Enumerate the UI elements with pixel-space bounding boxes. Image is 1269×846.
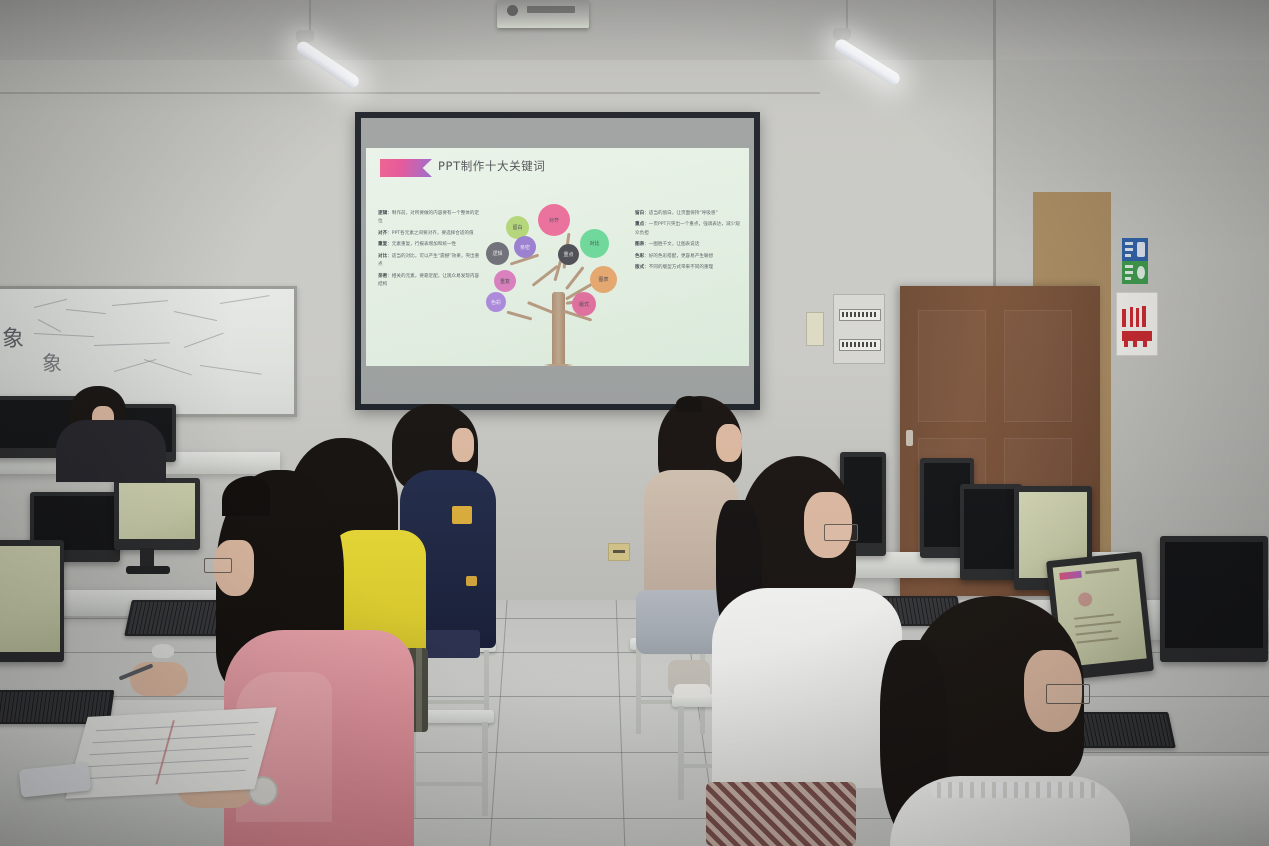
bullet-key: 版式 [635,265,644,270]
bullet-key: 色彩 [635,254,644,259]
whiteboard-scrawl [34,299,67,308]
tree-bubble-zhongdian: 重点 [558,244,579,265]
tree-bubble-luoji: 逻辑 [486,242,509,265]
monitor-base [126,566,170,574]
monitor-front-left-1 [0,540,64,662]
light-rod-left [309,0,311,32]
whiteboard-scrawl [174,311,217,321]
notebook-paper [65,707,276,799]
slide-bullet: 色彩：好的色彩搭配，更容易产生联想 [635,253,740,261]
wall-junction-box [806,312,824,346]
tree-branch [527,301,554,314]
bubble-label: 重复 [500,278,510,285]
slide-left-column: 逻辑：制作前，对所要做的内容要有一个整体的定位 对齐：PPT各元素之间要对齐，要… [378,210,483,293]
panel-label-1 [839,309,881,321]
bubble-label: 亲密 [520,244,530,251]
door-handle[interactable] [906,430,913,446]
tree-bubble-chongfu: 重复 [494,270,516,292]
bubble-label: 色彩 [491,299,501,306]
bullet-key: 图表 [635,242,644,247]
screen-surface: PPT制作十大关键词 逻辑：制作前，对所要做的内容要有一个整体的定位 对齐：PP… [361,118,754,404]
bubble-label: 版式 [579,301,589,308]
tree-bubble-duiqi: 对齐 [538,204,570,236]
whiteboard-scrawl [38,319,61,332]
whiteboard-scrawl [200,365,262,375]
slide-title: PPT制作十大关键词 [438,158,545,174]
slide-bullet: 重点：一页PPT只突出一个重点，强调表达，减少观众负担 [635,221,740,238]
projector-label [527,6,575,13]
projection-screen: PPT制作十大关键词 逻辑：制作前，对所要做的内容要有一个整体的定位 对齐：PP… [355,112,760,410]
slide-bullet: 亲密：相关的元素，要靠近配，让观众易发现内容结构 [378,273,483,290]
slide-bullet: 重复：元素重复，行报表增加和统一性 [378,241,483,249]
bullet-text: ：一图胜千文，让图表说话 [644,242,699,247]
bullet-text: ：相关的元素，要靠近配，让观众易发现内容结构 [378,274,479,287]
monitor-right-3 [960,484,1022,580]
bubble-label: 逻辑 [492,250,502,257]
bullet-text: ：一页PPT只突出一个重点，强调表达，减少观众负担 [635,222,740,235]
bullet-key: 对比 [378,254,387,259]
bullet-text: ：好的色彩搭配，更容易产生联想 [644,254,713,259]
ppt-slide: PPT制作十大关键词 逻辑：制作前，对所要做的内容要有一个整体的定位 对齐：PP… [366,148,749,366]
wall-outlet[interactable] [608,543,630,561]
slide-bullet: 版式：不同的版型方式带来不同的重理 [635,264,740,272]
fire-safety-poster [1116,292,1158,356]
door-panel [1004,310,1072,422]
tree-branch [507,311,533,321]
whiteboard-scrawl [184,333,224,348]
whiteboard-scrawl [144,359,192,375]
tree-bubble-banshi: 版式 [572,292,596,316]
bullet-key: 重点 [635,222,644,227]
bullet-text: ：适当的留白，让页面保持“呼吸感” [644,211,718,216]
light-rod-right [846,0,848,30]
whiteboard-char-1: 象 [2,321,24,353]
bullet-key: 留白 [635,211,644,216]
slide-bullet: 逻辑：制作前，对所要做的内容要有一个整体的定位 [378,210,483,227]
tree-bubble-duibi: 对比 [580,229,609,258]
monitor-right-5 [1160,536,1268,662]
bullet-text: ：元素重复，行报表增加和统一性 [387,242,456,247]
panel-label-2 [839,339,881,351]
whiteboard-scrawl [112,300,168,306]
tree-base [544,364,573,366]
bubble-label: 对比 [589,240,599,247]
safety-sign-green [1122,261,1148,284]
whiteboard-scrawl [220,295,270,304]
slide-title-ribbon [380,159,432,177]
slide-bullet: 对齐：PPT各元素之间要对齐，要选择合适的值 [378,230,483,238]
projector [497,0,589,28]
electrical-panel [833,294,885,364]
whiteboard-scrawl [114,359,157,372]
tree-trunk [552,292,565,366]
bullet-text: ：制作前，对所要做的内容要有一个整体的定位 [378,211,479,224]
projector-lens-icon [507,5,518,16]
bubble-label: 留白 [512,224,522,231]
tree-bubble-secai: 色彩 [486,292,506,312]
mouse-left[interactable] [152,644,174,658]
monitor-mid-left-2 [114,478,200,550]
door-panel [918,310,986,422]
tree-bubble-qinmi: 亲密 [514,236,536,258]
glasses [1046,684,1090,704]
slide-bullet: 对比：适当的对比，可以产生“震撼”效果，突出重点 [378,253,483,270]
bullet-key: 逻辑 [378,211,387,216]
whiteboard-scrawl [34,333,94,337]
ceiling [0,0,1269,60]
bubble-label: 重点 [563,251,573,258]
whiteboard-scrawl [94,342,170,346]
bullet-key: 对齐 [378,231,387,236]
wall-trim-line [0,92,820,94]
glasses [204,558,232,573]
glasses [824,524,858,541]
bubble-label: 图表 [598,276,608,283]
bullet-text: ：适当的对比，可以产生“震撼”效果，突出重点 [378,254,479,267]
slide-bullet: 图表：一图胜千文，让图表说话 [635,241,740,249]
whiteboard-scrawl [66,309,106,314]
keyword-tree-graphic: 留白 对齐 逻辑 亲密 重点 对比 图表 版式 重复 色彩 [486,196,636,366]
bullet-text: ：不同的版型方式带来不同的重理 [644,265,713,270]
slide-bullet: 留白：适当的留白，让页面保持“呼吸感” [635,210,740,218]
tree-branch [565,266,585,290]
safety-sign [1122,238,1148,284]
classroom-photo: PPT制作十大关键词 逻辑：制作前，对所要做的内容要有一个整体的定位 对齐：PP… [0,0,1269,846]
tree-bubble-tubiao: 图表 [590,266,617,293]
safety-sign-blue [1122,238,1148,261]
bullet-key: 重复 [378,242,387,247]
bullet-key: 亲密 [378,274,387,279]
slide-right-column: 留白：适当的留白，让页面保持“呼吸感” 重点：一页PPT只突出一个重点，强调表达… [635,210,740,276]
bullet-text: ：PPT各元素之间要对齐，要选择合适的值 [387,231,473,236]
whiteboard-char-2: 象 [42,347,62,376]
bubble-label: 对齐 [549,217,559,224]
light-cap-left [296,30,314,42]
